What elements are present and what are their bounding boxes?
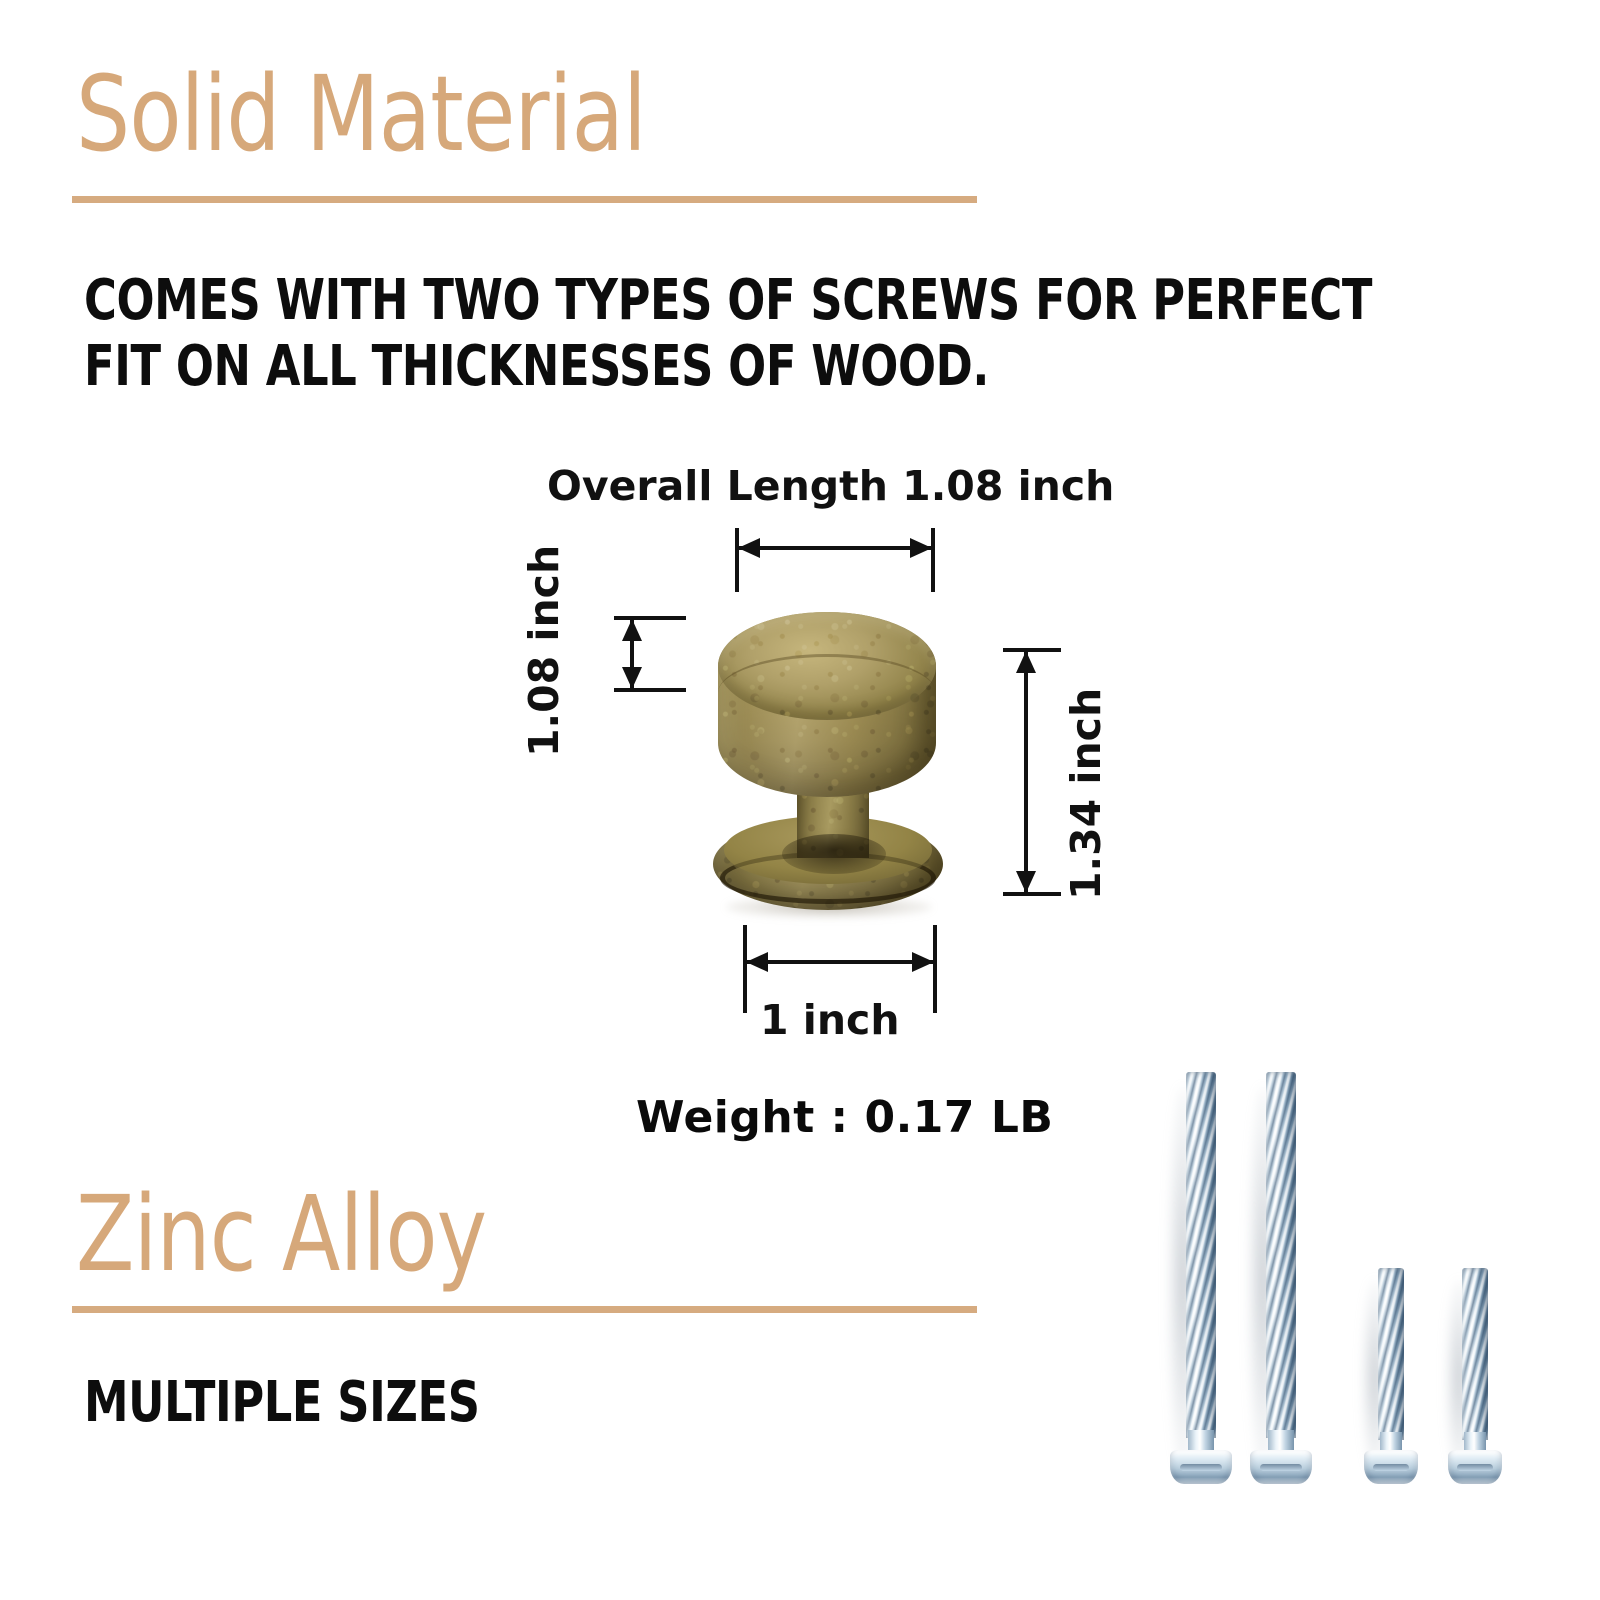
dimension-label-total-height: 1.34 inch — [1066, 688, 1107, 900]
dimension-arrow-total-height — [1024, 652, 1028, 892]
screw-shaft — [1186, 1072, 1216, 1438]
product-infographic: Solid Material COMES WITH TWO TYPES OF S… — [0, 0, 1600, 1600]
section-title-solid-material: Solid Material — [76, 62, 646, 166]
product-image-knob — [700, 590, 970, 920]
screw-shaft — [1462, 1268, 1488, 1440]
dimension-label-overall-length: Overall Length 1.08 inch — [547, 466, 1114, 507]
dimension-label-base-width: 1 inch — [760, 1000, 900, 1041]
screw-head — [1364, 1450, 1417, 1484]
dimension-arrow-cap-height — [630, 620, 634, 688]
knob-cap-top-face — [718, 612, 936, 720]
screw-head — [1448, 1450, 1501, 1484]
divider-rule-top — [72, 196, 977, 203]
section-title-zinc-alloy: Zinc Alloy — [76, 1182, 486, 1286]
knob-cap-top-texture — [718, 612, 936, 720]
long-screw-2 — [1266, 1072, 1296, 1472]
product-image-screws — [1150, 1040, 1550, 1540]
product-weight-label: Weight : 0.17 LB — [636, 1092, 1053, 1143]
divider-rule-bottom — [72, 1306, 977, 1313]
long-screw-1 — [1186, 1072, 1216, 1472]
dimension-arrow-overall-length — [739, 546, 931, 550]
screw-shaft — [1266, 1072, 1296, 1438]
section-body-zinc-alloy: MULTIPLE SIZES — [84, 1370, 1044, 1436]
screw-shaft — [1378, 1268, 1404, 1440]
screw-head — [1170, 1450, 1231, 1484]
short-screw-1 — [1378, 1268, 1404, 1472]
short-screw-2 — [1462, 1268, 1488, 1472]
section-body-solid-material: COMES WITH TWO TYPES OF SCREWS FOR PERFE… — [84, 268, 1572, 400]
screw-head — [1250, 1450, 1311, 1484]
dimension-label-cap-height: 1.08 inch — [524, 545, 565, 757]
knob-stem-base-shadow — [782, 834, 886, 874]
dimension-arrow-base-width — [747, 960, 933, 964]
